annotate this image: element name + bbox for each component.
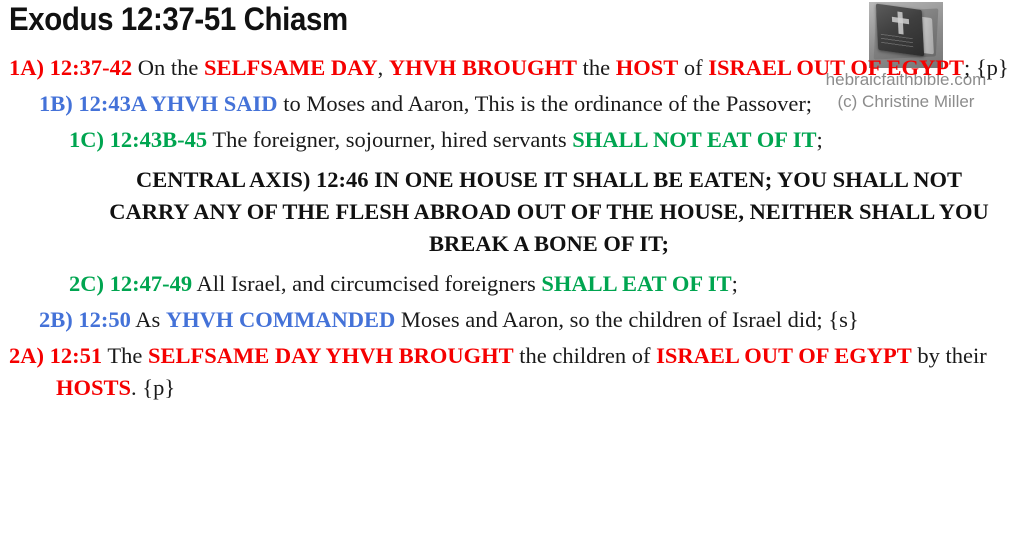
- chiasm-segment: ; {p}: [964, 55, 1009, 80]
- chiasm-segment: Moses and Aaron, so the children of Isra…: [395, 307, 858, 332]
- chiasm-segment: 2C) 12:47-49: [69, 271, 192, 296]
- chiasm-segment: HOST: [616, 55, 679, 80]
- chiasm-segment: As: [131, 307, 166, 332]
- chiasm-segment: ISRAEL OUT OF EGYPT: [656, 343, 912, 368]
- chiasm-segment: . {p}: [131, 375, 175, 400]
- chiasm-segment: ISRAEL OUT OF EGYPT: [708, 55, 964, 80]
- chiasm-segment: the children of: [514, 343, 656, 368]
- chiasm-line-1a: 1A) 12:37-42 On the SELFSAME DAY, YHVH B…: [0, 50, 1024, 86]
- chiasm-segment: SELFSAME DAY: [204, 55, 378, 80]
- chiasm-segment: The foreigner, sojourner, hired servants: [207, 127, 572, 152]
- page-title: Exodus 12:37-51 Chiasm: [9, 1, 348, 38]
- document-header: Exodus 12:37-51 Chiasm hebraicfaithbible…: [0, 0, 1024, 50]
- chiasm-segment: YHVH COMMANDED: [166, 307, 395, 332]
- chiasm-segment: 1B) 12:43A YHVH SAID: [39, 91, 278, 116]
- chiasm-line-2c: 2C) 12:47-49 All Israel, and circumcised…: [0, 266, 1024, 302]
- chiasm-line-1b: 1B) 12:43A YHVH SAID to Moses and Aaron,…: [0, 86, 1024, 122]
- chiasm-segment: All Israel, and circumcised foreigners: [192, 271, 541, 296]
- chiasm-segment: to Moses and Aaron, This is the ordinanc…: [278, 91, 813, 116]
- chiasm-segment: the: [577, 55, 616, 80]
- chiasm-segment: The: [102, 343, 148, 368]
- chiasm-segment: HOSTS: [56, 375, 131, 400]
- chiasm-segment: YHVH BROUGHT: [389, 55, 577, 80]
- chiasm-line-2a: 2A) 12:51 The SELFSAME DAY YHVH BROUGHT …: [0, 338, 1024, 406]
- chiasm-segment: 1A) 12:37-42: [9, 55, 132, 80]
- chiasm-segment: SHALL NOT EAT OF IT: [572, 127, 816, 152]
- chiasm-line-2b: 2B) 12:50 As YHVH COMMANDED Moses and Aa…: [0, 302, 1024, 338]
- chiasm-body: 1A) 12:37-42 On the SELFSAME DAY, YHVH B…: [0, 50, 1024, 406]
- chiasm-segment: ,: [378, 55, 389, 80]
- chiasm-segment: SELFSAME DAY YHVH BROUGHT: [148, 343, 514, 368]
- chiasm-line-central-axis: CENTRAL AXIS) 12:46 IN ONE HOUSE IT SHAL…: [0, 158, 1024, 267]
- chiasm-segment: 2B) 12:50: [39, 307, 131, 332]
- chiasm-segment: SHALL EAT OF IT: [541, 271, 731, 296]
- chiasm-segment: ;: [817, 127, 823, 152]
- chiasm-segment: by their: [912, 343, 987, 368]
- chiasm-segment: 1C) 12:43B-45: [69, 127, 207, 152]
- chiasm-line-1c: 1C) 12:43B-45 The foreigner, sojourner, …: [0, 122, 1024, 158]
- chiasm-segment: ;: [732, 271, 738, 296]
- chiasm-segment: of: [678, 55, 708, 80]
- chiasm-segment: 2A) 12:51: [9, 343, 102, 368]
- chiasm-segment: On the: [132, 55, 204, 80]
